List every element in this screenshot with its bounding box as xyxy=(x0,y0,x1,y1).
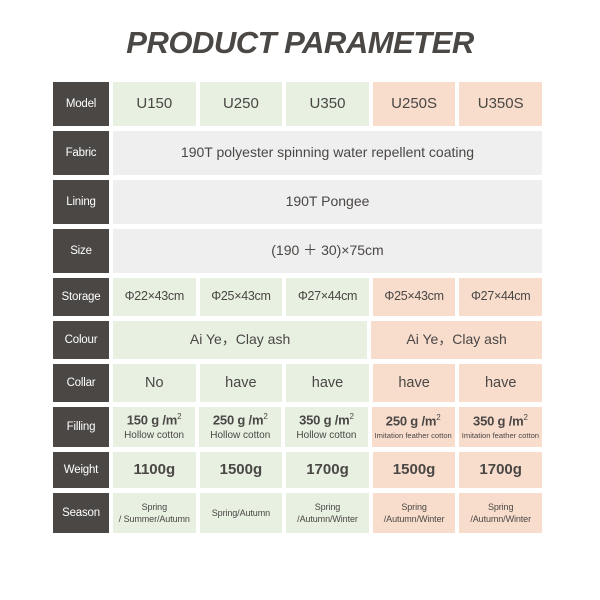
filling-amount-text: 150 g /m xyxy=(127,412,177,427)
table-row-storage: Storage Φ22×43cm Φ25×43cm Φ27×44cm Φ25×4… xyxy=(53,278,542,316)
filling-amount: 250 g /m2 xyxy=(386,413,441,430)
filling-amount: 150 g /m2 xyxy=(127,412,182,429)
table-row-weight: Weight 1100g 1500g 1700g 1500g 1700g xyxy=(53,452,542,488)
row-label-size: Size xyxy=(53,229,109,273)
row-cells-collar: No have have have have xyxy=(113,364,542,402)
row-label-collar: Collar xyxy=(53,364,109,402)
row-cells-fabric: 190T polyester spinning water repellent … xyxy=(113,131,542,175)
cell-collar-u150: No xyxy=(113,364,196,402)
filling-unit-sup: 2 xyxy=(436,413,440,422)
row-cells-size: (190 ＋ 30)×75cm xyxy=(113,229,542,273)
cell-storage-u150: Φ22×43cm xyxy=(113,278,196,316)
row-label-weight: Weight xyxy=(53,452,109,488)
row-cells-storage: Φ22×43cm Φ25×43cm Φ27×44cm Φ25×43cm Φ27×… xyxy=(113,278,542,316)
cell-weight-u350s: 1700g xyxy=(459,452,542,488)
cell-season-u250s: Spring /Autumn/Winter xyxy=(373,493,456,533)
cell-model-u350: U350 xyxy=(286,82,369,126)
cell-storage-u250s: Φ25×43cm xyxy=(373,278,456,316)
table-row-collar: Collar No have have have have xyxy=(53,364,542,402)
filling-material: Hollow cotton xyxy=(296,430,356,443)
table-row-fabric: Fabric 190T polyester spinning water rep… xyxy=(53,131,542,175)
filling-amount: 350 g /m2 xyxy=(473,413,528,430)
filling-amount: 250 g /m2 xyxy=(213,412,268,429)
filling-material: Imitation feather cotton xyxy=(375,431,452,440)
row-cells-filling: 150 g /m2 Hollow cotton 250 g /m2 Hollow… xyxy=(113,407,542,447)
table-row-model: Model U150 U250 U350 U250S U350S xyxy=(53,82,542,126)
row-cells-model: U150 U250 U350 U250S U350S xyxy=(113,82,542,126)
filling-material: Imitation feather cotton xyxy=(462,431,539,440)
season-text: Spring /Autumn/Winter xyxy=(384,501,445,525)
row-label-storage: Storage xyxy=(53,278,109,316)
table-row-filling: Filling 150 g /m2 Hollow cotton 250 g /m… xyxy=(53,407,542,447)
cell-weight-u250: 1500g xyxy=(200,452,283,488)
cell-weight-u150: 1100g xyxy=(113,452,196,488)
filling-unit-sup: 2 xyxy=(350,412,354,421)
cell-storage-u350s: Φ27×44cm xyxy=(459,278,542,316)
cell-weight-u350: 1700g xyxy=(286,452,369,488)
filling-unit-sup: 2 xyxy=(177,412,181,421)
cell-filling-u350: 350 g /m2 Hollow cotton xyxy=(285,407,367,447)
row-cells-lining: 190T Pongee xyxy=(113,180,542,224)
product-parameter-page: PRODUCT PARAMETER Model U150 U250 U350 U… xyxy=(0,0,600,600)
cell-collar-u350s: have xyxy=(459,364,542,402)
filling-material: Hollow cotton xyxy=(124,430,184,443)
row-label-lining: Lining xyxy=(53,180,109,224)
cell-colour-green: Ai Ye，Clay ash xyxy=(113,321,367,359)
cell-model-u150: U150 xyxy=(113,82,196,126)
cell-colour-pink: Ai Ye，Clay ash xyxy=(371,321,542,359)
cell-filling-u250: 250 g /m2 Hollow cotton xyxy=(199,407,281,447)
filling-amount-text: 250 g /m xyxy=(213,412,263,427)
cell-collar-u250: have xyxy=(200,364,283,402)
filling-amount: 350 g /m2 xyxy=(299,412,354,429)
cell-storage-u350: Φ27×44cm xyxy=(286,278,369,316)
season-text: Spring /Autumn/Winter xyxy=(470,501,531,525)
cell-filling-u250s: 250 g /m2 Imitation feather cotton xyxy=(372,407,455,447)
row-label-fabric: Fabric xyxy=(53,131,109,175)
season-text: Spring /Autumn/Winter xyxy=(297,501,358,525)
cell-model-u350s: U350S xyxy=(459,82,542,126)
filling-material: Hollow cotton xyxy=(210,430,270,443)
parameter-table: Model U150 U250 U350 U250S U350S Fabric … xyxy=(53,82,542,533)
cell-season-u250: Spring/Autumn xyxy=(200,493,283,533)
season-text: Spring / Summer/Autumn xyxy=(119,501,190,525)
cell-collar-u250s: have xyxy=(373,364,456,402)
table-row-colour: Colour Ai Ye，Clay ash Ai Ye，Clay ash xyxy=(53,321,542,359)
cell-storage-u250: Φ25×43cm xyxy=(200,278,283,316)
row-cells-season: Spring / Summer/Autumn Spring/Autumn Spr… xyxy=(113,493,542,533)
row-label-colour: Colour xyxy=(53,321,109,359)
cell-fabric-value: 190T polyester spinning water repellent … xyxy=(113,131,542,175)
filling-unit-sup: 2 xyxy=(263,412,267,421)
table-row-season: Season Spring / Summer/Autumn Spring/Aut… xyxy=(53,493,542,533)
cell-model-u250: U250 xyxy=(200,82,283,126)
cell-model-u250s: U250S xyxy=(373,82,456,126)
filling-unit-sup: 2 xyxy=(523,413,527,422)
table-row-lining: Lining 190T Pongee xyxy=(53,180,542,224)
cell-collar-u350: have xyxy=(286,364,369,402)
page-title: PRODUCT PARAMETER xyxy=(0,0,600,60)
filling-amount-text: 350 g /m xyxy=(299,412,349,427)
filling-amount-text: 250 g /m xyxy=(386,414,436,429)
row-label-season: Season xyxy=(53,493,109,533)
season-text: Spring/Autumn xyxy=(212,507,270,519)
filling-amount-text: 350 g /m xyxy=(473,414,523,429)
row-label-model: Model xyxy=(53,82,109,126)
cell-season-u350s: Spring /Autumn/Winter xyxy=(459,493,542,533)
row-cells-weight: 1100g 1500g 1700g 1500g 1700g xyxy=(113,452,542,488)
cell-season-u150: Spring / Summer/Autumn xyxy=(113,493,196,533)
table-row-size: Size (190 ＋ 30)×75cm xyxy=(53,229,542,273)
cell-filling-u350s: 350 g /m2 Imitation feather cotton xyxy=(459,407,542,447)
cell-lining-value: 190T Pongee xyxy=(113,180,542,224)
cell-filling-u150: 150 g /m2 Hollow cotton xyxy=(113,407,195,447)
cell-weight-u250s: 1500g xyxy=(373,452,456,488)
cell-season-u350: Spring /Autumn/Winter xyxy=(286,493,369,533)
row-cells-colour: Ai Ye，Clay ash Ai Ye，Clay ash xyxy=(113,321,542,359)
cell-size-value: (190 ＋ 30)×75cm xyxy=(113,229,542,273)
row-label-filling: Filling xyxy=(53,407,109,447)
